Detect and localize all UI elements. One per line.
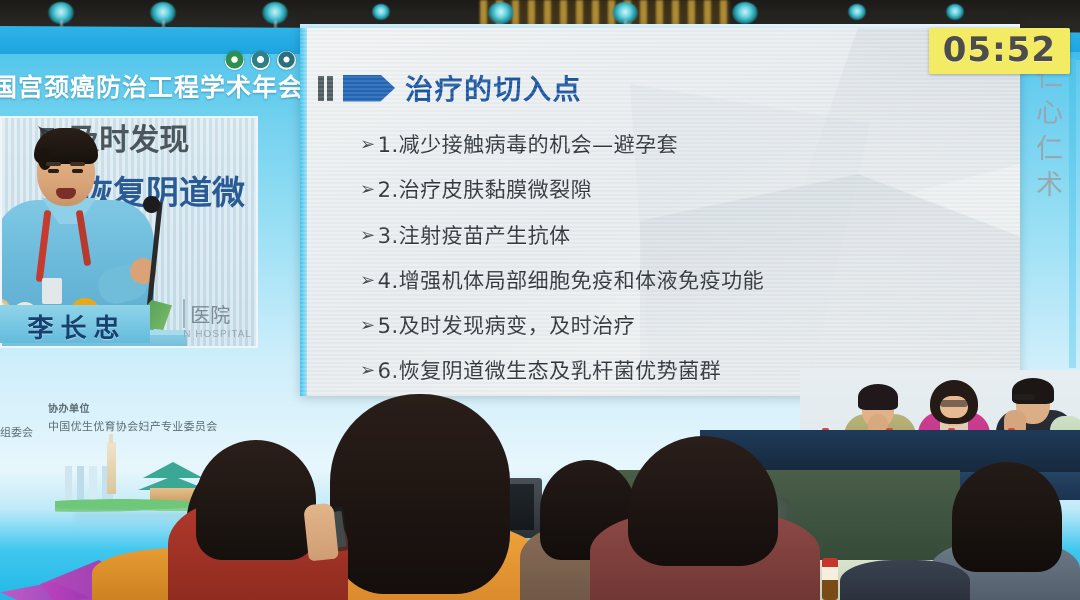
bullet-text: 6.恢复阴道微生态及乳杆菌优势菌群 <box>378 358 722 384</box>
sponsor-block: 协办单位 中国优生优育协会妇产专业委员会 <box>48 400 218 434</box>
arrow-shape-icon <box>343 75 395 102</box>
bullet-marker-icon: ➢ <box>360 177 376 202</box>
slide-bullet-item: ➢ 2.治疗皮肤黏膜微裂隙 <box>360 177 1000 203</box>
slide-bullet-item: ➢ 1.减少接触病毒的机会—避孕套 <box>360 132 1000 158</box>
bullet-text: 5.及时发现病变，及时治疗 <box>378 313 636 339</box>
screenshot-root: 仁心仁术 博学博爱 国宫颈癌防治工程学术年会 5.及时发现 恢复阴道微 <box>0 0 1080 600</box>
countdown-timer: 05:52 <box>929 28 1070 74</box>
bullet-marker-icon: ➢ <box>360 313 376 338</box>
projection-screen: 治疗的切入点 ➢ 1.减少接触病毒的机会—避孕套 ➢ 2.治疗皮肤黏膜微裂隙 ➢… <box>300 24 1020 396</box>
speaker-name: 李长忠 <box>2 308 152 345</box>
speaker-mouth <box>56 188 76 199</box>
stage-light-icon <box>488 2 514 24</box>
bullet-text: 2.治疗皮肤黏膜微裂隙 <box>378 177 593 203</box>
backdrop-blue-strip <box>1069 58 1076 368</box>
bullet-text: 1.减少接触病毒的机会—避孕套 <box>378 132 679 158</box>
stage-light-icon <box>732 2 758 24</box>
calligraphy-column-1: 仁心仁术 <box>1027 62 1066 362</box>
slide-bullet-item: ➢ 3.注射疫苗产生抗体 <box>360 223 1000 249</box>
stage-light-icon <box>848 4 866 20</box>
bullet-marker-icon: ➢ <box>360 132 376 157</box>
stage-light-icon <box>372 4 390 20</box>
microphone-icon <box>143 196 160 213</box>
slide-bullet-list: ➢ 1.减少接触病毒的机会—避孕套 ➢ 2.治疗皮肤黏膜微裂隙 ➢ 3.注射疫苗… <box>360 132 1000 396</box>
hospital-logo-text: 医院 N HOSPITAL <box>183 299 252 340</box>
audience-hair <box>952 462 1062 572</box>
hospital-name-en: N HOSPITAL <box>183 329 252 340</box>
slide-bullet-item: ➢ 5.及时发现病变，及时治疗 <box>360 313 1000 339</box>
bars-arrow-icon <box>318 76 333 101</box>
sponsor-heading: 协办单位 <box>48 400 218 415</box>
slide-title: 治疗的切入点 <box>405 68 582 108</box>
stage-light-icon <box>946 4 964 20</box>
hospital-name-cn: 医院 <box>183 299 252 328</box>
screen-left-edge <box>300 24 307 396</box>
panelist-glasses-icon <box>940 400 968 407</box>
bullet-marker-icon: ➢ <box>360 358 376 383</box>
sponsor-partial-text: 组委会 <box>0 424 33 440</box>
bullet-text: 4.增强机体局部细胞免疫和体液免疫功能 <box>378 268 765 294</box>
audience-bottle <box>822 558 838 600</box>
audience-hair <box>196 440 316 560</box>
sponsor-organization: 中国优生优育协会妇产专业委员会 <box>48 418 218 434</box>
panelist-hair <box>858 384 898 410</box>
audience-hair <box>330 394 510 594</box>
bullet-marker-icon: ➢ <box>360 268 376 293</box>
bullet-marker-icon: ➢ <box>360 223 376 248</box>
screen-top-edge <box>300 24 1020 28</box>
panelist-glasses-icon <box>1013 394 1035 400</box>
conference-banner: 国宫颈癌防治工程学术年会 <box>0 54 302 118</box>
slide-title-row: 治疗的切入点 <box>318 68 582 108</box>
audience-member <box>840 560 970 600</box>
countdown-timer-value: 05:52 <box>943 30 1056 70</box>
slide-bullet-item: ➢ 4.增强机体局部细胞免疫和体液免疫功能 <box>360 268 1000 294</box>
audience-hand <box>303 503 339 562</box>
panelist-hair <box>1012 378 1054 404</box>
bullet-text: 3.注射疫苗产生抗体 <box>378 223 571 249</box>
conference-banner-title: 国宫颈癌防治工程学术年会 <box>0 68 304 104</box>
